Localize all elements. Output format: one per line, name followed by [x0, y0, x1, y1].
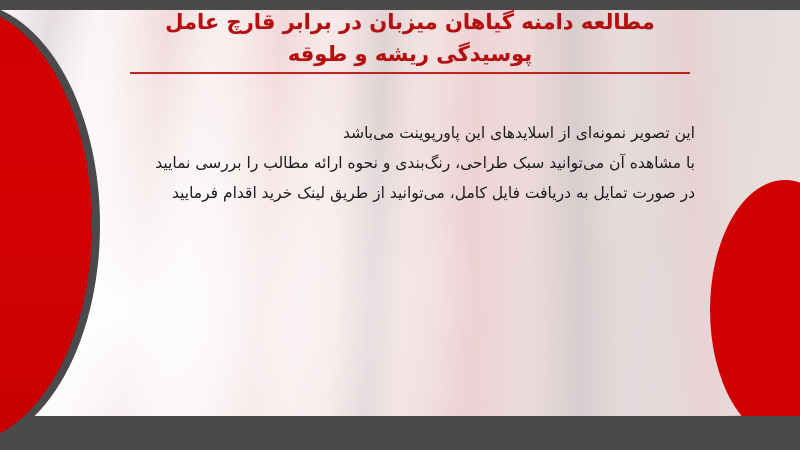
slide-title-line-2: پوسیدگی ریشه و طوقه — [120, 38, 700, 70]
slide-body-text: این تصویر نمونه‌ای از اسلایدهای این پاور… — [95, 118, 695, 208]
slide-title-line-1: مطالعه دامنه گیاهان میزبان در برابر قارچ… — [120, 6, 700, 38]
presentation-slide: مطالعه دامنه گیاهان میزبان در برابر قارچ… — [0, 0, 800, 450]
title-underline-rule — [130, 72, 690, 74]
bottom-gray-band — [0, 416, 800, 450]
body-line-3: در صورت تمایل به دریافت فایل کامل، می‌تو… — [95, 178, 695, 208]
slide-title: مطالعه دامنه گیاهان میزبان در برابر قارچ… — [120, 6, 700, 70]
body-line-2: با مشاهده آن می‌توانید سبک طراحی، رنگ‌بن… — [95, 148, 695, 178]
body-line-1: این تصویر نمونه‌ای از اسلایدهای این پاور… — [95, 118, 695, 148]
